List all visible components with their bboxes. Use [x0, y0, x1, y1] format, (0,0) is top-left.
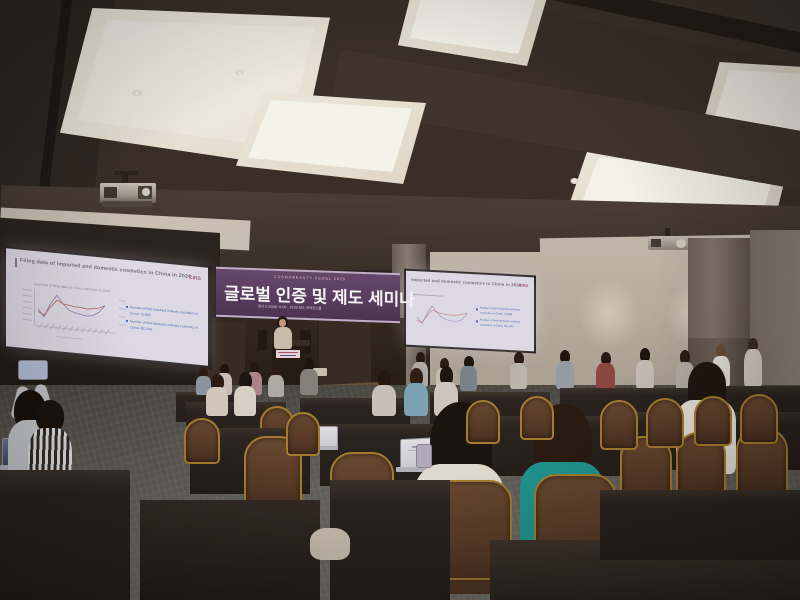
left-projection-screen: Filing data of imported and domestic cos…	[6, 248, 208, 365]
left-slide: Filing data of imported and domestic cos…	[6, 248, 208, 365]
table-row	[0, 470, 130, 600]
chair	[466, 400, 500, 444]
phone[interactable]	[416, 444, 432, 468]
attendee	[300, 358, 318, 394]
attendee	[234, 372, 256, 414]
chair	[600, 400, 638, 450]
banner-subtitle: 일시 5.30(금) 11:00 - 15:00 장소 컨퍼런스룸	[258, 303, 322, 310]
chair	[694, 396, 732, 446]
attendee	[556, 350, 574, 388]
podium-sign-line2	[280, 355, 296, 357]
right-slide-logo: CIRS	[518, 283, 528, 289]
podium-sign-line1	[278, 352, 298, 354]
chair	[286, 412, 320, 456]
chair	[740, 394, 778, 444]
right-bullet-2: Number of filed domestic ordinary cosmet…	[480, 319, 530, 331]
attendee	[372, 370, 396, 414]
wall-speaker-left	[258, 330, 267, 350]
right-projection-screen: imported and domestic cosmetics in China…	[406, 271, 534, 352]
podium-sign	[276, 350, 300, 358]
seminar-room-photo: Filing data of imported and domestic cos…	[0, 0, 800, 600]
attendee	[268, 366, 284, 396]
attendee	[460, 356, 477, 390]
attendee	[596, 352, 615, 390]
chair	[646, 398, 684, 448]
bag	[310, 528, 350, 560]
right-slide-title: imported and domestic cosmetics in China…	[411, 277, 521, 288]
slide-title-accent	[15, 258, 17, 267]
attendee-standing	[744, 338, 762, 386]
table-row	[140, 500, 320, 600]
phone[interactable]	[18, 360, 48, 380]
bullet-marker-1	[126, 306, 128, 308]
bullet-marker-2	[126, 320, 128, 322]
right-bullet-1: Number of filed imported ordinary cosmet…	[480, 307, 530, 319]
attendee	[636, 348, 654, 388]
chair	[520, 396, 554, 440]
right-slide: imported and domestic cosmetics in China…	[406, 271, 534, 352]
slide-logo: CIRS	[189, 275, 201, 282]
stage-banner: COSMOBEAUTY SEOUL 2025 글로벌 인증 및 제도 세미나 일…	[216, 267, 400, 323]
attendee	[206, 374, 228, 414]
speaker	[272, 316, 294, 348]
ceiling-projector-left	[100, 183, 156, 209]
chair	[184, 418, 220, 464]
slide-line-chart	[20, 288, 118, 343]
table-row	[600, 490, 800, 560]
attendee	[510, 352, 527, 388]
